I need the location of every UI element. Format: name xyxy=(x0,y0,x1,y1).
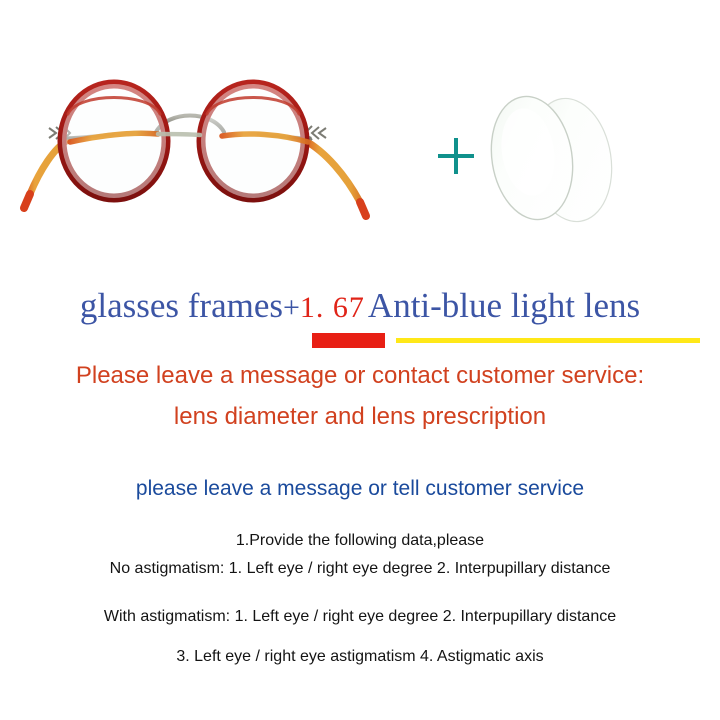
instruction-line-2: No astigmatism: 1. Left eye / right eye … xyxy=(0,560,720,578)
right-temple-tip xyxy=(360,202,366,216)
headline-part-lens: Anti-blue light lens xyxy=(368,286,640,326)
right-temple-arm xyxy=(304,140,366,216)
right-lens-surface xyxy=(201,84,305,198)
instruction-line-4: 3. Left eye / right eye astigmatism 4. A… xyxy=(0,648,720,666)
left-temple-tip xyxy=(24,194,30,208)
glasses-illustration xyxy=(8,62,428,237)
temple-metal-run xyxy=(158,134,200,135)
headline-part-frames: glasses frames xyxy=(80,286,283,326)
headline-plus-sign: + xyxy=(283,291,300,325)
instruction-line-3: With astigmatism: 1. Left eye / right ey… xyxy=(0,608,720,626)
product-image-band xyxy=(0,0,720,280)
callout-message: please leave a message or tell customer … xyxy=(0,477,720,501)
notice-line-1: Please leave a message or contact custom… xyxy=(0,362,720,390)
red-underline-mark xyxy=(312,333,385,348)
yellow-underline-mark xyxy=(396,338,700,343)
lenses-illustration xyxy=(478,80,628,240)
instruction-line-1: 1.Provide the following data,please xyxy=(0,532,720,550)
headline-refractive-index: 1. 67 xyxy=(300,291,365,325)
glasses-frames-image xyxy=(8,62,428,237)
headline: glasses frames+1. 67Anti-blue light lens xyxy=(0,286,720,330)
lens-blanks-image xyxy=(478,80,628,240)
notice-line-2: lens diameter and lens prescription xyxy=(0,403,720,431)
plus-icon xyxy=(438,138,474,174)
plus-icon-vertical-bar xyxy=(454,138,458,174)
